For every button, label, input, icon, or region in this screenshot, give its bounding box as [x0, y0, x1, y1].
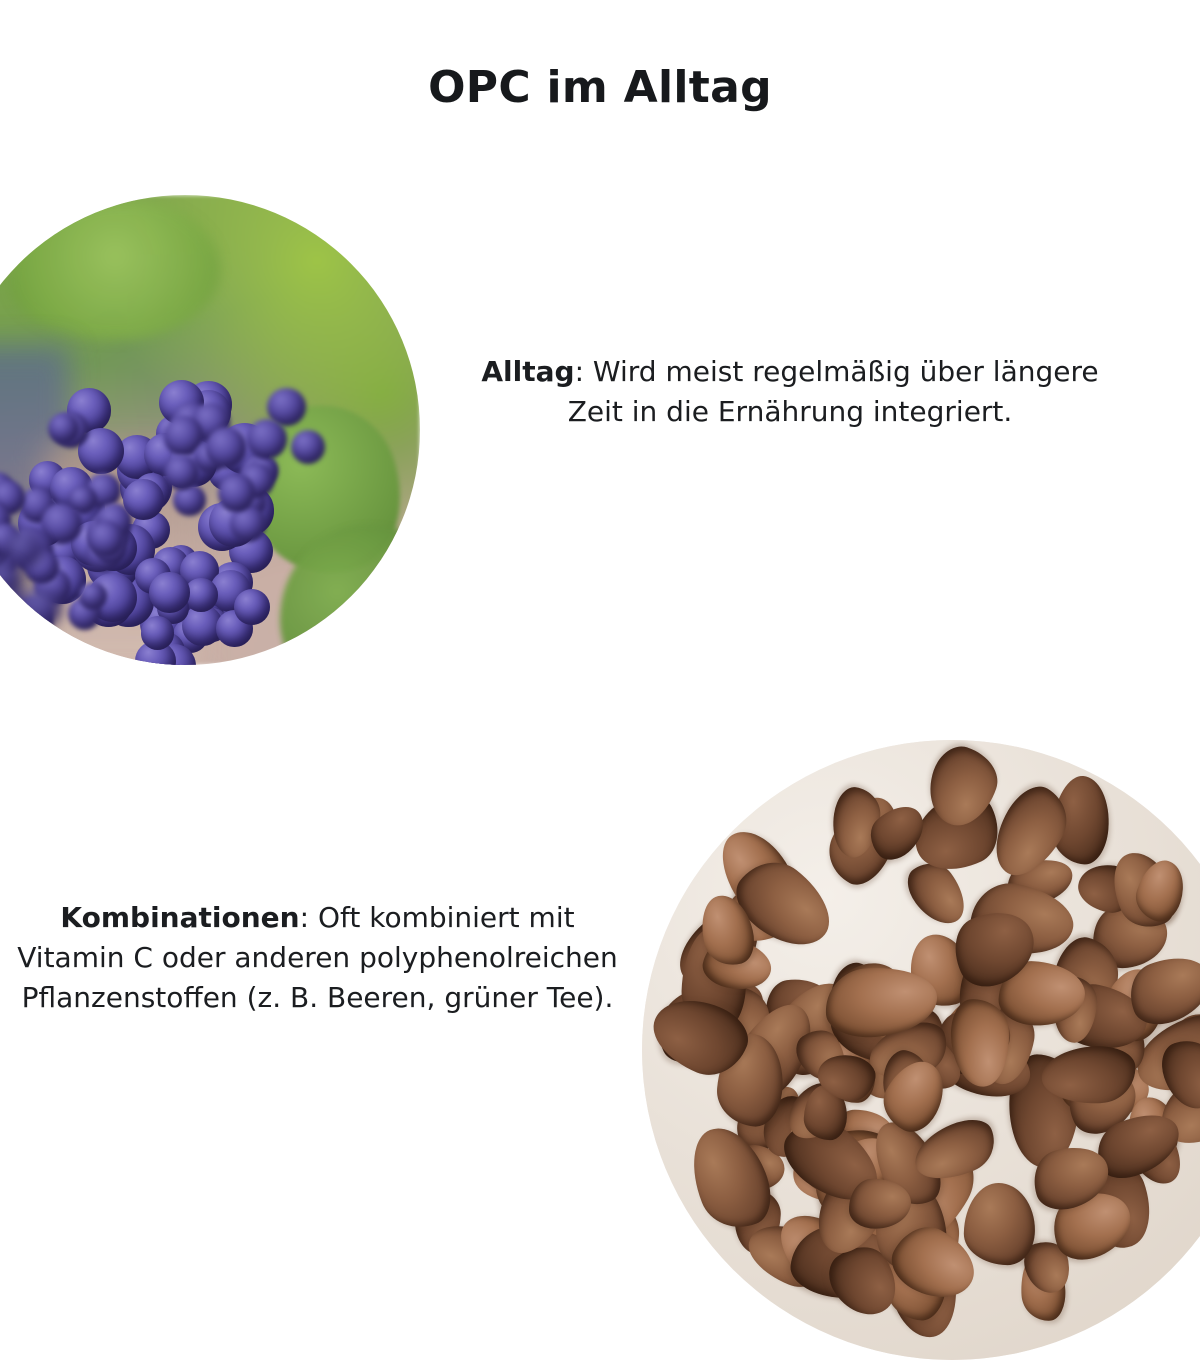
- section-kombinationen: Kombinationen: Oft kombiniert mit Vitami…: [10, 898, 625, 1017]
- grape-cluster-photo: [0, 195, 420, 665]
- section-alltag-body: Wird meist regelmäßig über längere Zeit …: [568, 355, 1099, 428]
- section-alltag-separator: :: [575, 355, 593, 388]
- infographic-page: OPC im Alltag Alltag: Wird meist regelmä…: [0, 0, 1200, 1200]
- grape-cluster: [0, 195, 420, 665]
- section-alltag: Alltag: Wird meist regelmäßig über länge…: [460, 352, 1120, 432]
- page-title: OPC im Alltag: [0, 62, 1200, 113]
- section-kombinationen-separator: :: [300, 901, 318, 934]
- section-kombinationen-lead: Kombinationen: [60, 901, 299, 934]
- grape-seeds-photo: [642, 740, 1200, 1360]
- section-alltag-lead: Alltag: [481, 355, 574, 388]
